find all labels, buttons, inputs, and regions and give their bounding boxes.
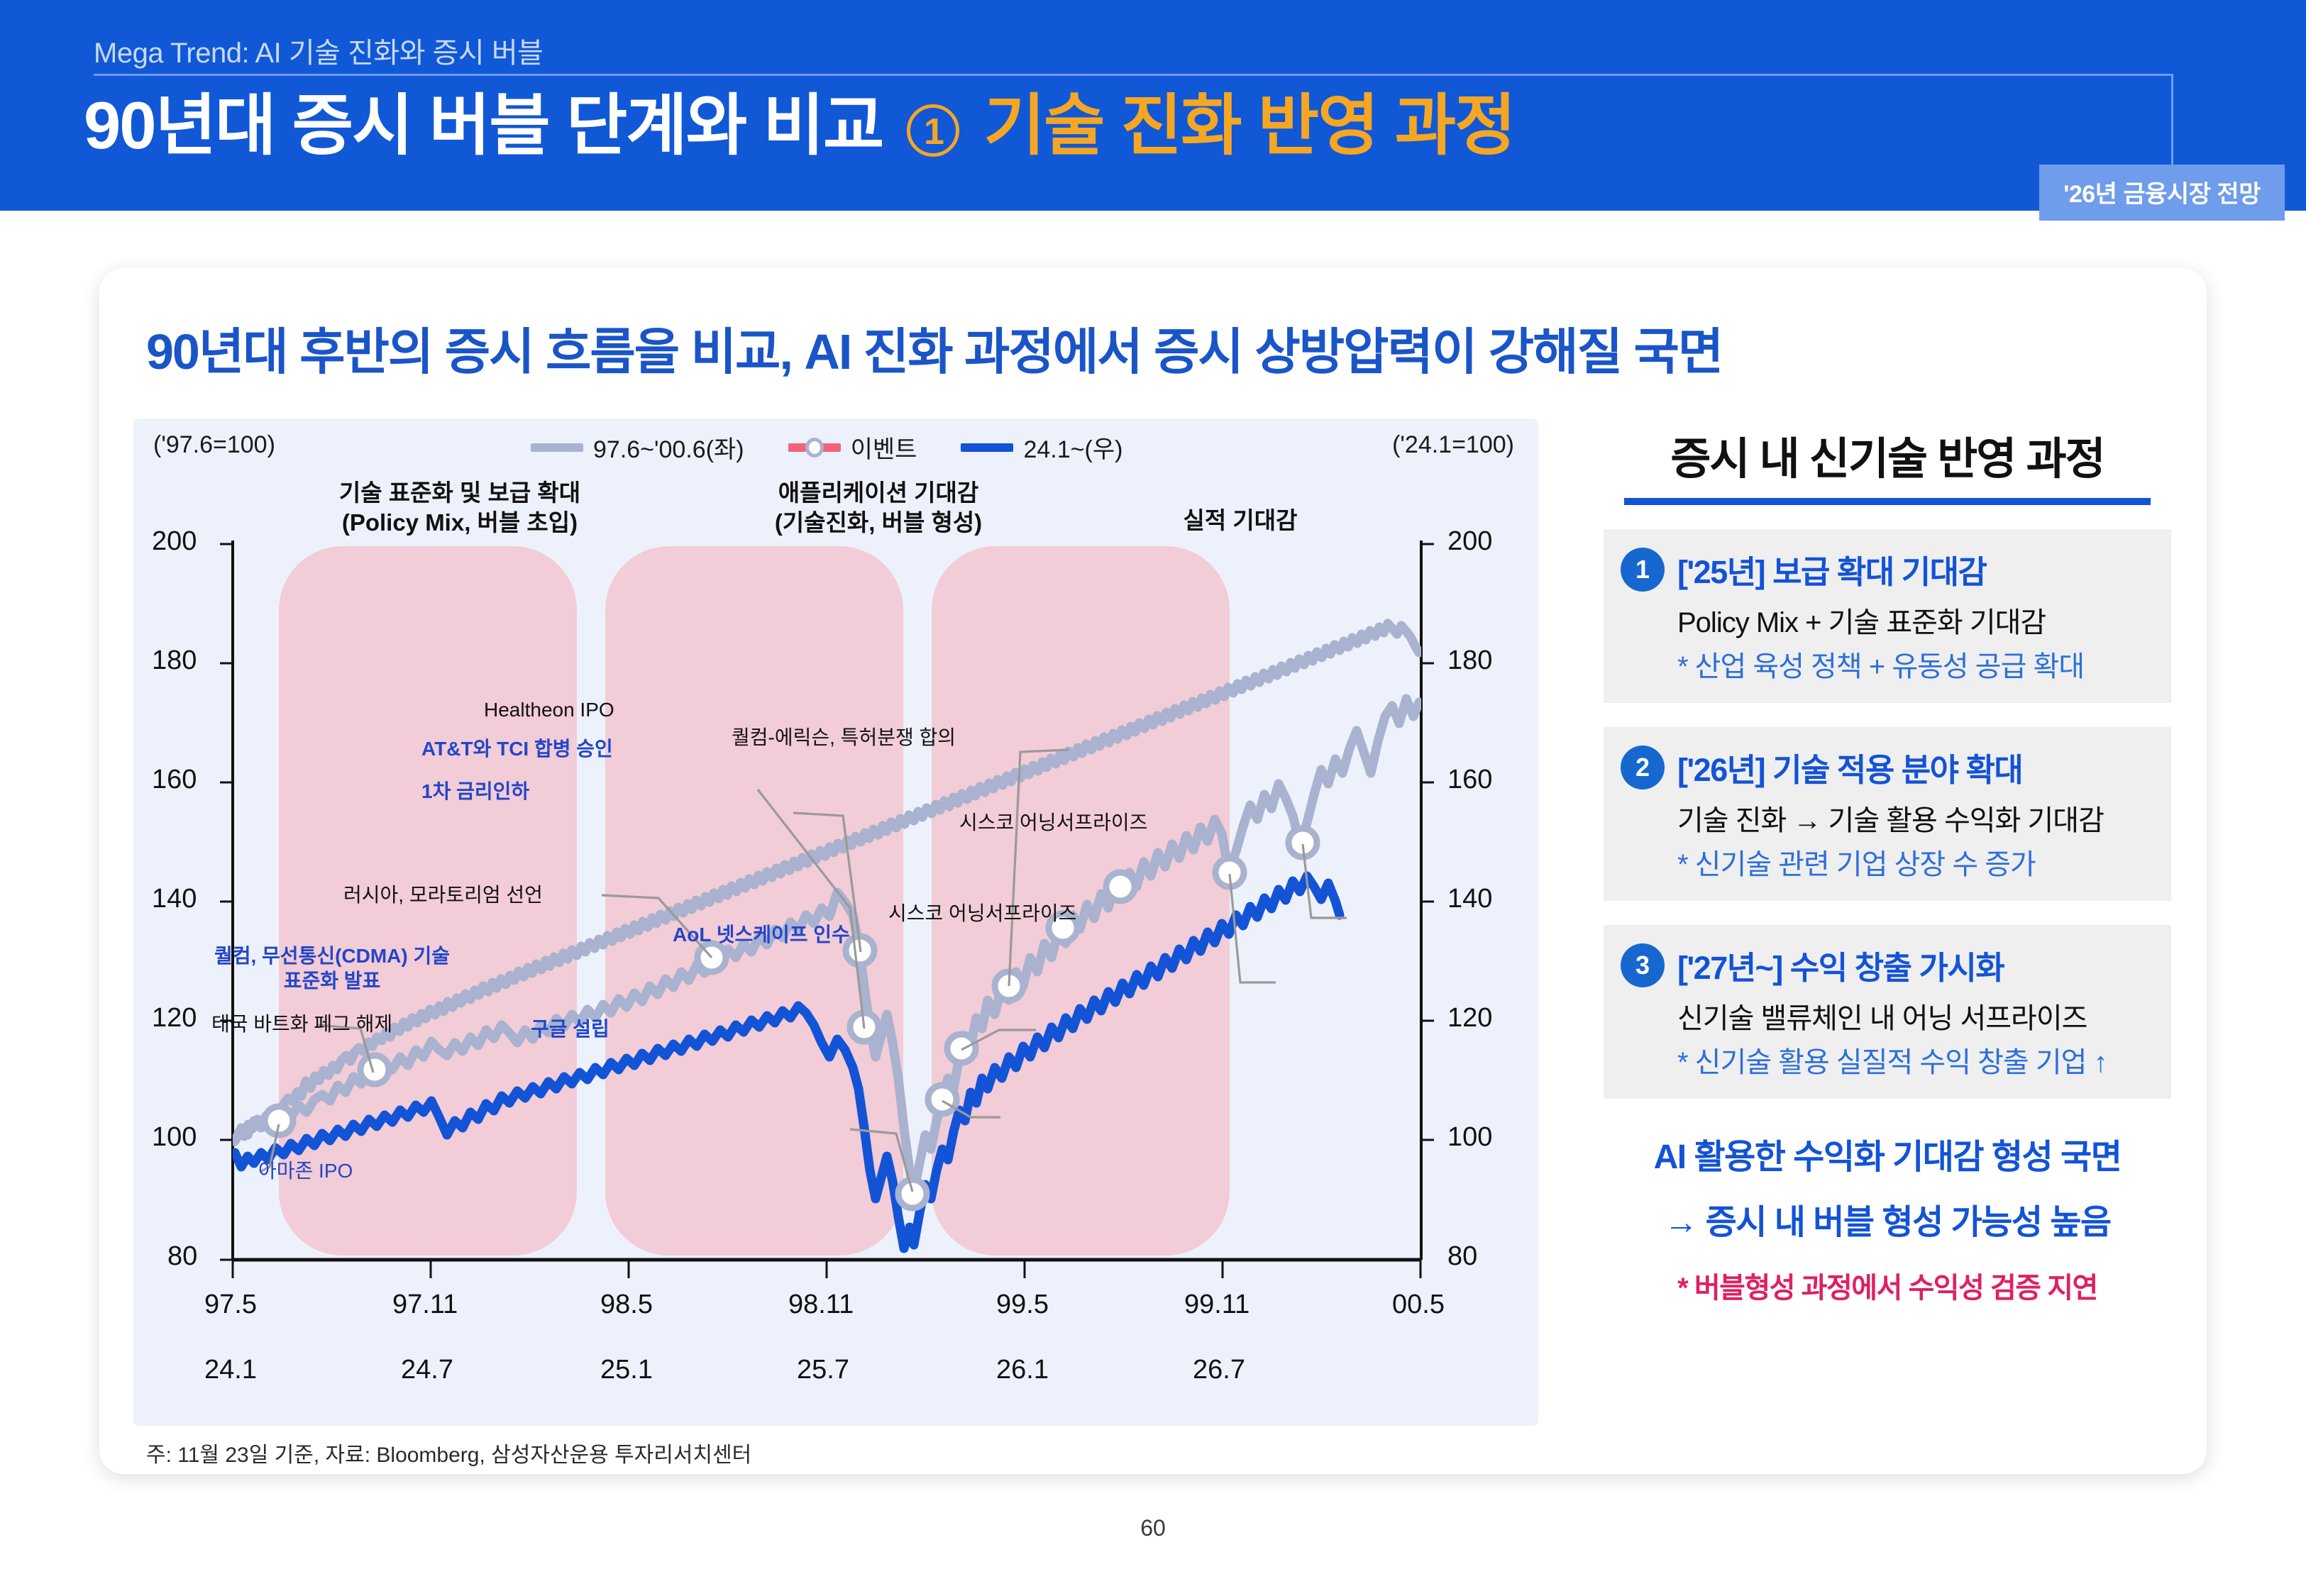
slide: Mega Trend: AI 기술 진화와 증시 버블 90년대 증시 버블 단…	[0, 0, 2306, 1596]
y-axis-left-ticks	[220, 544, 233, 1260]
right-panel: 증시 내 신기술 반영 과정 1 ['25년] 보급 확대 기대감 Policy…	[1604, 423, 2171, 1416]
xtick-bottom-5: 26.1	[996, 1355, 1049, 1385]
xtick-top-6: 99.11	[1184, 1290, 1249, 1320]
ytick-left-200: 200	[152, 526, 197, 557]
right-panel-item-2: 2 ['26년] 기술 적용 분야 확대 기술 진화 → 기술 활용 수익화 기…	[1604, 727, 2171, 901]
right-panel-item-3-head: ['27년~] 수익 창출 가시화	[1677, 942, 2158, 988]
annotation-aol-netscape: AoL 넷스케이프 인수	[673, 922, 850, 947]
xtick-bottom-6: 26.7	[1193, 1355, 1245, 1385]
xtick-bottom-2: 24.7	[401, 1355, 453, 1385]
header-ribbon-badge: '26년 금융시장 전망	[2039, 165, 2285, 221]
annotation-qualcomm-cdma-line2: 표준화 발표	[172, 968, 492, 993]
right-panel-title: 증시 내 신기술 반영 과정	[1604, 423, 2171, 487]
circled-number-icon: 1	[907, 104, 959, 157]
annotation-qualcomm-cdma-line1: 퀄컴, 무선통신(CDMA) 기술	[172, 943, 492, 968]
right-panel-item-1: 1 ['25년] 보급 확대 기대감 Policy Mix + 기술 표준화 기…	[1604, 529, 2171, 703]
right-panel-conclusion-3: * 버블형성 과정에서 수익성 검증 지연	[1604, 1265, 2171, 1306]
ytick-left-120: 120	[152, 1003, 197, 1033]
header-eyebrow: Mega Trend: AI 기술 진화와 증시 버블	[94, 30, 543, 71]
page-title: 90년대 증시 버블 단계와 비교 1 기술 진화 반영 과정	[84, 92, 1515, 159]
ytick-left-100: 100	[152, 1122, 197, 1153]
right-panel-item-1-line1: Policy Mix + 기술 표준화 기대감	[1677, 599, 2158, 641]
right-panel-conclusion-2: → 증시 내 버블 형성 가능성 높음	[1604, 1194, 2171, 1243]
right-panel-item-2-badge: 2	[1621, 746, 1665, 789]
slide-header: Mega Trend: AI 기술 진화와 증시 버블 90년대 증시 버블 단…	[0, 0, 2306, 211]
xtick-top-2: 97.11	[392, 1290, 458, 1320]
xtick-top-1: 97.5	[204, 1290, 257, 1320]
chart-footnote: 주: 11월 23일 기준, 자료: Bloomberg, 삼성자산운용 투자리…	[146, 1437, 751, 1468]
ytick-left-140: 140	[152, 884, 197, 914]
xtick-top-5: 99.5	[996, 1290, 1049, 1320]
card-headline: 90년대 후반의 증시 흐름을 비교, AI 진화 과정에서 증시 상방압력이 …	[146, 312, 1722, 384]
annotation-qualcomm-ericsson: 퀄컴-에릭슨, 특허분쟁 합의	[732, 725, 956, 750]
xtick-top-3: 98.5	[600, 1290, 653, 1320]
xtick-top-7: 00.5	[1392, 1290, 1445, 1320]
right-panel-rule	[1624, 498, 2151, 505]
annotation-qualcomm-cdma: 퀄컴, 무선통신(CDMA) 기술 표준화 발표	[172, 943, 492, 993]
ytick-left-160: 160	[152, 765, 197, 795]
xtick-top-4: 98.11	[788, 1290, 854, 1320]
ytick-right-80: 80	[1447, 1241, 1477, 1272]
annotation-healtheon-ipo: Healtheon IPO	[484, 697, 614, 722]
xtick-bottom-3: 25.1	[600, 1355, 653, 1385]
right-panel-item-1-line2: * 산업 육성 정책 + 유동성 공급 확대	[1677, 643, 2158, 685]
right-panel-item-2-line1: 기술 진화 → 기술 활용 수익화 기대감	[1677, 797, 2158, 838]
ytick-left-80: 80	[167, 1241, 197, 1272]
ytick-right-120: 120	[1447, 1003, 1492, 1033]
header-divider	[94, 74, 2173, 76]
ytick-right-180: 180	[1447, 645, 1492, 676]
y-axis-right-ticks	[1421, 544, 1434, 1140]
ytick-right-100: 100	[1447, 1122, 1492, 1153]
right-panel-item-3-line1: 신기술 밸류체인 내 어닝 서프라이즈	[1677, 995, 2158, 1036]
chart-panel: ('97.6=100) ('24.1=100) 97.6~'00.6(좌) 이벤…	[133, 419, 1538, 1426]
annotation-att-tci-merger: AT&T와 TCI 합병 승인	[421, 736, 613, 761]
right-panel-item-1-head: ['25년] 보급 확대 기대감	[1677, 546, 2158, 592]
phase-band-2	[605, 546, 903, 1256]
annotation-first-rate-cut: 1차 금리인하	[421, 779, 529, 804]
annotation-cisco-earnings-2: 시스코 어닝서프라이즈	[888, 901, 1076, 926]
xtick-bottom-4: 25.7	[797, 1355, 849, 1385]
annotation-thai-baht: 태국 바트화 페그 해제	[211, 1012, 392, 1036]
right-panel-item-3-line2: * 신기술 활용 실질적 수익 창출 기업 ↑	[1677, 1039, 2158, 1080]
ytick-right-200: 200	[1447, 526, 1492, 557]
right-panel-item-2-head: ['26년] 기술 적용 분야 확대	[1677, 744, 2158, 790]
ytick-right-160: 160	[1447, 765, 1492, 795]
content-card: 90년대 후반의 증시 흐름을 비교, AI 진화 과정에서 증시 상방압력이 …	[99, 268, 2207, 1474]
ytick-left-180: 180	[152, 645, 197, 676]
annotation-cisco-earnings-1: 시스코 어닝서프라이즈	[959, 810, 1147, 835]
right-panel-item-2-line2: * 신기술 관련 기업 상장 수 증가	[1677, 841, 2158, 882]
right-panel-item-3-badge: 3	[1621, 943, 1665, 987]
annotation-russia-moratorium: 러시아, 모라토리엄 선언	[343, 882, 543, 907]
ytick-right-140: 140	[1447, 884, 1492, 914]
right-panel-conclusion-1: AI 활용한 수익화 기대감 형성 국면	[1604, 1129, 2171, 1178]
page-number: 60	[0, 1515, 2306, 1541]
x-axis-ticks	[233, 1260, 1420, 1278]
page-title-part2: 기술 진화 반영 과정	[966, 88, 1514, 162]
right-panel-item-1-badge: 1	[1621, 548, 1665, 592]
annotation-google-founded: 구글 설립	[531, 1016, 609, 1041]
xtick-bottom-1: 24.1	[204, 1355, 257, 1385]
annotation-amazon-ipo: 아마존 IPO	[258, 1158, 353, 1183]
page-title-part1: 90년대 증시 버블 단계와 비교	[84, 88, 900, 162]
right-panel-item-3: 3 ['27년~] 수익 창출 가시화 신기술 밸류체인 내 어닝 서프라이즈 …	[1604, 925, 2171, 1099]
